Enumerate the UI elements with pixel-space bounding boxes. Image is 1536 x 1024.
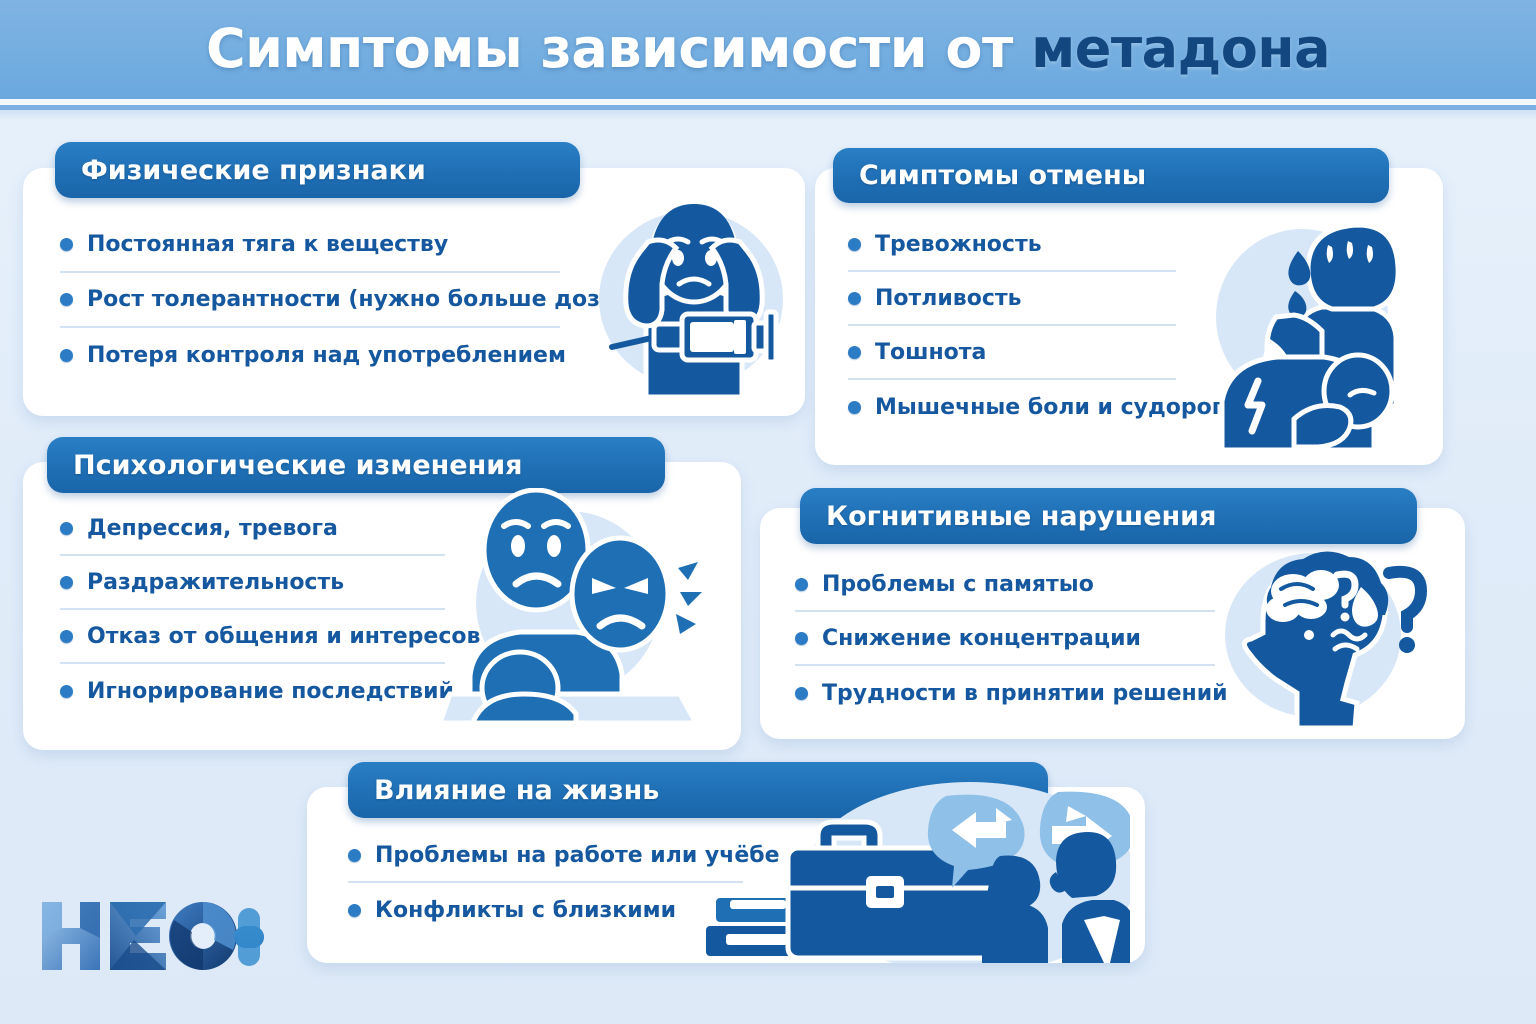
list-item: Проблемы на работе или учёбе [348,829,743,883]
list-item: Потеря контроля над употреблением [60,328,560,383]
bullet-icon [795,578,808,591]
bullet-list-cognitive-impairment: Проблемы с памятыо Снижение концентрации… [795,558,1215,720]
bullet-icon [795,687,808,700]
bullet-icon [848,401,861,414]
list-item: Рост толерантности (нужно больше дозы) [60,273,560,328]
list-item-label: Трудности в принятии решений [822,681,1228,706]
bullet-icon [60,293,73,306]
list-item-label: Тревожность [875,232,1042,257]
list-item-label: Раздражительность [87,570,344,595]
list-item-label: Отказ от общения и интересов [87,624,480,649]
bullet-list-life-impact: Проблемы на работе или учёбе Конфликты с… [348,829,743,937]
card-header-cognitive-impairment: Когнитивные нарушения [800,488,1417,544]
page-title-main: Симптомы зависимости от [206,17,1031,80]
list-item-label: Потливость [875,286,1022,311]
card-header-withdrawal-symptoms: Симптомы отмены [833,148,1389,203]
list-item-label: Постоянная тяга к веществу [87,232,448,257]
bullet-icon [348,904,361,917]
bullet-icon [60,630,73,643]
list-item-label: Игнорирование последствий [87,679,454,704]
infographic-poster: Симптомы зависимости от метадона Физичес… [0,0,1536,1024]
bullet-icon [348,849,361,862]
bullet-icon [795,632,808,645]
list-item: Снижение концентрации [795,612,1215,666]
bullet-icon [60,522,73,535]
list-item-label: Рост толерантности (нужно больше дозы) [87,287,630,312]
list-item: Депрессия, тревога [60,502,445,556]
list-item: Тревожность [848,218,1176,272]
card-title-withdrawal-symptoms: Симптомы отмены [859,160,1146,191]
list-item: Проблемы с памятыо [795,558,1215,612]
list-item: Тошнота [848,326,1176,380]
bullet-icon [60,685,73,698]
neo-plus-logo [36,890,266,980]
bullet-icon [848,346,861,359]
bullet-icon [60,238,73,251]
list-item: Отказ от общения и интересов [60,610,445,664]
card-header-psychological-changes: Психологические изменения [47,437,665,493]
list-item-label: Конфликты с близкими [375,898,676,923]
bullet-list-physical-signs: Постоянная тяга к веществу Рост толерант… [60,218,560,383]
card-title-physical-signs: Физические признаки [81,155,426,186]
list-item-label: Тошнота [875,340,986,365]
list-item: Трудности в принятии решений [795,666,1215,720]
list-item-label: Мышечные боли и судороги [875,395,1239,420]
list-item-label: Потеря контроля над употреблением [87,343,566,368]
card-header-life-impact: Влияние на жизнь [348,762,1048,818]
card-title-cognitive-impairment: Когнитивные нарушения [826,501,1216,532]
list-item-label: Снижение концентрации [822,626,1141,651]
card-title-psychological-changes: Психологические изменения [73,450,523,481]
card-title-life-impact: Влияние на жизнь [374,775,659,806]
bullet-list-withdrawal-symptoms: Тревожность Потливость Тошнота Мышечные … [848,218,1176,434]
list-item: Потливость [848,272,1176,326]
page-title: Симптомы зависимости от метадона [0,17,1536,80]
bullet-icon [60,349,73,362]
list-item: Мышечные боли и судороги [848,380,1176,434]
list-item: Раздражительность [60,556,445,610]
card-header-physical-signs: Физические признаки [55,142,580,198]
list-item-label: Проблемы на работе или учёбе [375,843,780,868]
bullet-icon [60,576,73,589]
bullet-list-psychological-changes: Депрессия, тревога Раздражительность Отк… [60,502,445,718]
list-item-label: Проблемы с памятыо [822,572,1094,597]
list-item: Постоянная тяга к веществу [60,218,560,273]
list-item-label: Депрессия, тревога [87,516,338,541]
header-divider-fade [0,110,1536,119]
list-item: Конфликты с близкими [348,883,743,937]
bullet-icon [848,292,861,305]
page-title-accent: метадона [1031,17,1330,80]
bullet-icon [848,238,861,251]
list-item: Игнорирование последствий [60,664,445,718]
